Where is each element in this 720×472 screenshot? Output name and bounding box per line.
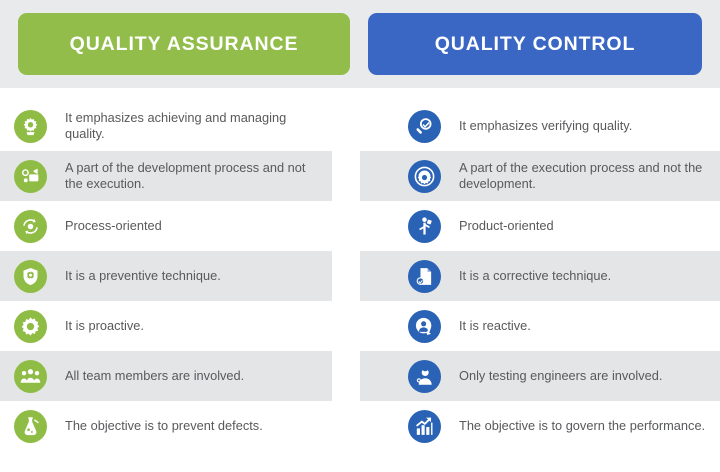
table-row: It emphasizes achieving and managing qua… xyxy=(0,101,332,151)
team-group-icon xyxy=(14,360,47,393)
table-row: Product-oriented xyxy=(360,201,720,251)
row-text: The objective is to govern the performan… xyxy=(459,418,705,434)
quality-assurance-header-pill: QUALITY ASSURANCE xyxy=(18,13,350,75)
table-row: All team members are involved. xyxy=(0,351,332,401)
row-text: It is a corrective technique. xyxy=(459,268,611,284)
row-text: It is proactive. xyxy=(65,318,144,334)
table-row: Only testing engineers are involved. xyxy=(360,351,720,401)
table-row: It is proactive. xyxy=(0,301,332,351)
row-text: It emphasizes verifying quality. xyxy=(459,118,632,134)
shield-check-icon xyxy=(14,260,47,293)
comparison-columns: It emphasizes achieving and managing qua… xyxy=(0,88,720,472)
table-row: It is a corrective technique. xyxy=(360,251,720,301)
gear-icon xyxy=(14,310,47,343)
development-process-icon xyxy=(14,160,47,193)
document-check-icon xyxy=(408,260,441,293)
row-text: It is a preventive technique. xyxy=(65,268,221,284)
magnifier-check-icon xyxy=(408,110,441,143)
table-row: It emphasizes verifying quality. xyxy=(360,101,720,151)
table-row: Process-oriented xyxy=(0,201,332,251)
row-text: It emphasizes achieving and managing qua… xyxy=(65,110,315,141)
qa-vs-qc-comparison-infographic: QUALITY ASSURANCE QUALITY CONTROL It emp… xyxy=(0,0,720,472)
row-text: Only testing engineers are involved. xyxy=(459,368,662,384)
table-row: A part of the development process and no… xyxy=(0,151,332,201)
quality-gear-shield-icon xyxy=(14,110,47,143)
row-text: A part of the development process and no… xyxy=(65,160,315,191)
table-row: A part of the execution process and not … xyxy=(360,151,720,201)
row-text: All team members are involved. xyxy=(65,368,244,384)
reactive-support-icon xyxy=(408,310,441,343)
row-text: A part of the execution process and not … xyxy=(459,160,711,191)
row-text: It is reactive. xyxy=(459,318,531,334)
quality-control-header-pill: QUALITY CONTROL xyxy=(368,13,702,75)
quality-assurance-header-label: QUALITY ASSURANCE xyxy=(70,33,299,56)
table-row: It is a preventive technique. xyxy=(0,251,332,301)
header-pill-row: QUALITY ASSURANCE QUALITY CONTROL xyxy=(0,0,720,88)
table-row: It is reactive. xyxy=(360,301,720,351)
product-person-icon xyxy=(408,210,441,243)
quality-control-header-label: QUALITY CONTROL xyxy=(435,33,636,56)
table-row: The objective is to govern the performan… xyxy=(360,401,720,451)
row-text: The objective is to prevent defects. xyxy=(65,418,263,434)
execution-gear-target-icon xyxy=(408,160,441,193)
test-engineer-icon xyxy=(408,360,441,393)
growth-chart-icon xyxy=(408,410,441,443)
row-text: Product-oriented xyxy=(459,218,554,234)
defect-prevention-icon xyxy=(14,410,47,443)
table-row: The objective is to prevent defects. xyxy=(0,401,332,451)
row-text: Process-oriented xyxy=(65,218,162,234)
quality-assurance-column: It emphasizes achieving and managing qua… xyxy=(0,88,360,472)
quality-control-column: It emphasizes verifying quality. A part … xyxy=(360,88,720,472)
process-cycle-icon xyxy=(14,210,47,243)
